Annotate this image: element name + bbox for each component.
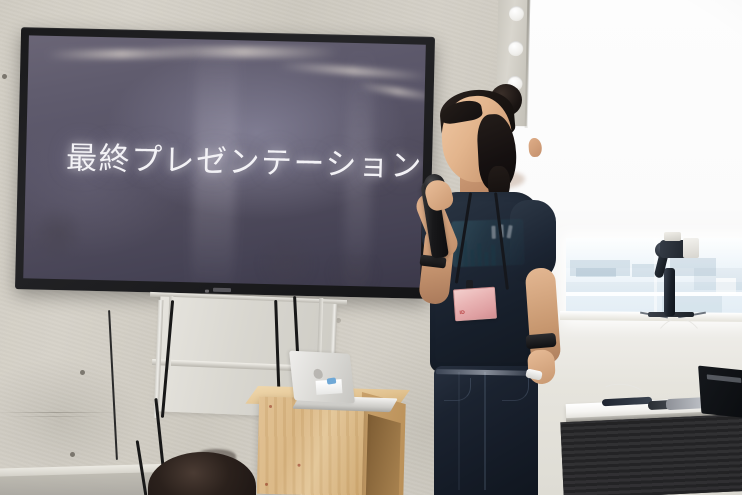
gimbal-mounted-phone [683, 238, 699, 258]
form-tie-mark [80, 370, 85, 375]
screen-dark-patch [36, 202, 81, 265]
plywood-crate [257, 397, 365, 495]
smartwatch [525, 333, 556, 350]
laptop-logo-icon [313, 369, 323, 379]
crate-interior [366, 414, 401, 495]
tv-brand-logo [213, 288, 231, 292]
ear [528, 138, 542, 158]
screen-dark-patch [323, 250, 384, 287]
wall-hairline [6, 416, 102, 417]
gimbal-handle[interactable] [664, 268, 675, 316]
laptop-lid [289, 351, 355, 404]
badge-text: ID [459, 310, 465, 316]
laptop-screen-glow [707, 374, 742, 383]
blue-object [327, 377, 337, 384]
wall-hairline [0, 412, 116, 413]
flat-panel-tv: 最終プレゼンテーション [15, 27, 435, 299]
photo-scene: 最終プレゼンテーション [0, 0, 742, 495]
presenter: ID [404, 88, 594, 495]
gimbal-clamp [664, 232, 681, 241]
slide-title: 最終プレゼンテーション [66, 132, 424, 185]
table-laptop [698, 366, 742, 419]
form-tie-mark [70, 452, 75, 457]
name-badge: ID [453, 287, 497, 322]
right-hand [527, 349, 556, 384]
screen-reflection [149, 46, 339, 58]
form-tie-hole-icon [509, 6, 524, 21]
tv-screen: 最終プレゼンテーション [23, 35, 426, 287]
jeans [434, 366, 538, 495]
form-tie-mark [2, 74, 7, 79]
screen-dark-patch [251, 239, 322, 288]
form-tie-hole-icon [508, 41, 523, 56]
